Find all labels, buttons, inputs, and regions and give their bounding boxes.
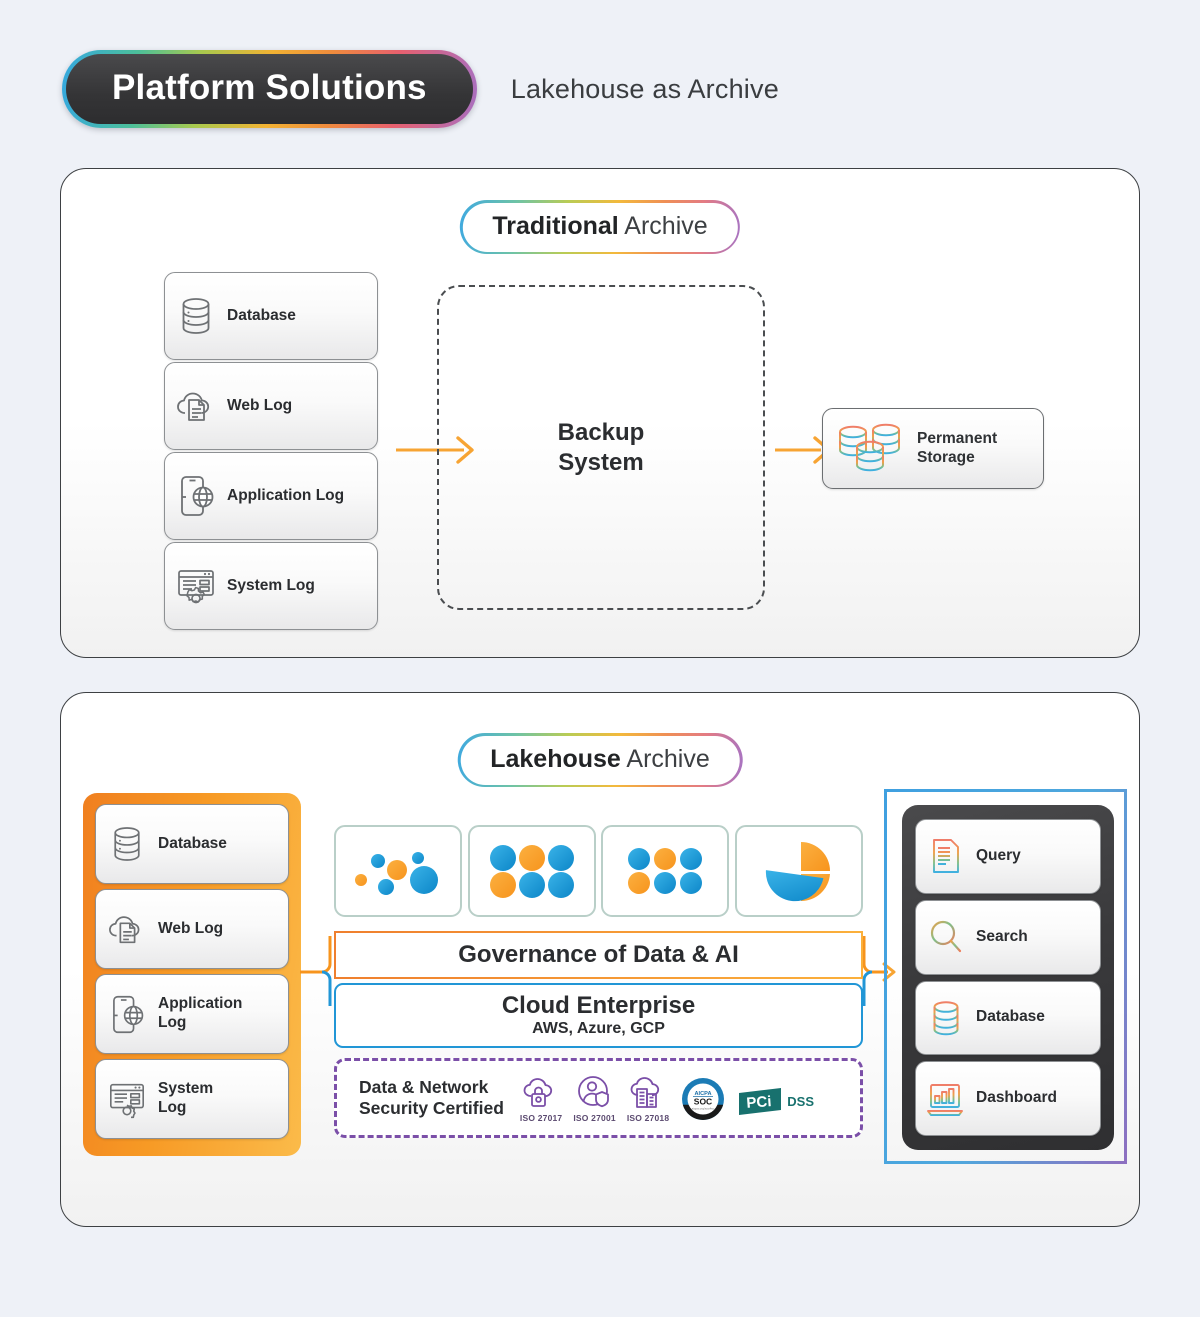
viz-card-pie-chart[interactable] <box>735 825 863 917</box>
security-certified-bar: Data & Network Security Certified ISO 27… <box>334 1058 863 1138</box>
traditional-source-list: Database Web Log <box>164 272 378 632</box>
dashboard-laptop-icon <box>916 1081 976 1117</box>
cloud-document-icon <box>165 386 227 426</box>
source-label-text: Application Log <box>227 487 344 504</box>
cloud-enterprise-label: Cloud Enterprise <box>502 993 695 1020</box>
backup-system-label: Backup System <box>558 418 645 477</box>
source-card-web-log[interactable]: Web Log <box>164 362 378 450</box>
source-card-database[interactable]: Database <box>95 804 289 884</box>
multi-database-icon <box>833 418 909 480</box>
pie-chart-icon <box>764 838 834 904</box>
permanent-storage-label: Permanent Storage <box>917 430 997 468</box>
dot-grid-small-icon <box>626 845 704 897</box>
traditional-title-bold: Traditional <box>492 212 618 240</box>
pci-dss-icon: PCi <box>737 1087 783 1117</box>
pci-text: PCi <box>746 1093 772 1112</box>
cloud-lock-icon <box>521 1074 561 1112</box>
source-label: System Log <box>158 1080 213 1118</box>
document-lines-icon <box>916 836 976 876</box>
viz-card-dot-grid-large[interactable] <box>468 825 596 917</box>
source-label: Application Log <box>227 487 350 506</box>
backup-system-box: Backup System <box>437 285 765 610</box>
source-label: Database <box>158 835 227 854</box>
security-certified-label-text: Data & Network Security Certified <box>359 1077 504 1118</box>
badge-caption: ISO 27017 <box>520 1113 562 1123</box>
lakehouse-archive-title: Lakehouse Archive <box>458 733 743 787</box>
output-card-database[interactable]: Database <box>915 981 1101 1056</box>
badge-pci-dss: PCi DSS <box>737 1087 814 1117</box>
lakehouse-archive-title-inner: Lakehouse Archive <box>460 736 740 785</box>
platform-solutions-label: Platform Solutions <box>112 70 427 105</box>
badge-caption: ISO 27018 <box>627 1113 669 1123</box>
aicpa-soc-seal-icon: AICPA SOC aicpa.org/soc4so <box>680 1076 726 1122</box>
governance-label: Governance of Data & AI <box>458 941 739 969</box>
magnifier-icon <box>916 918 976 956</box>
bubble-chart-icon <box>352 842 444 900</box>
traditional-archive-title-inner: Traditional Archive <box>462 203 737 252</box>
backup-system-label-text: Backup System <box>558 419 645 475</box>
page-subtitle: Lakehouse as Archive <box>511 74 779 105</box>
viz-card-bubble-chart[interactable] <box>334 825 462 917</box>
output-card-search[interactable]: Search <box>915 900 1101 975</box>
badge-iso-27018: ISO 27018 <box>627 1074 669 1123</box>
output-label: Database <box>976 1008 1045 1027</box>
source-card-web-log[interactable]: Web Log <box>95 889 289 969</box>
lakehouse-title-bold: Lakehouse <box>490 745 621 773</box>
output-panel: Query Search <box>902 805 1114 1150</box>
lakehouse-source-list: Database Web Log <box>83 793 301 1156</box>
dot-grid-large-icon <box>487 842 577 900</box>
platform-solutions-badge-inner: Platform Solutions <box>66 54 473 124</box>
source-card-database[interactable]: Database <box>164 272 378 360</box>
traditional-archive-title: Traditional Archive <box>460 200 740 254</box>
source-label: System Log <box>227 577 321 596</box>
page-header: Platform Solutions Lakehouse as Archive <box>62 50 779 128</box>
source-label: Application Log <box>158 995 242 1033</box>
source-label: Database <box>227 307 302 326</box>
viz-card-dot-grid-small[interactable] <box>601 825 729 917</box>
badge-iso-27017: ISO 27017 <box>520 1074 562 1123</box>
dss-text: DSS <box>787 1094 814 1109</box>
cloud-document-icon <box>96 910 158 948</box>
source-label: Web Log <box>227 397 298 416</box>
output-label: Dashboard <box>976 1089 1057 1108</box>
source-label-text: Application Log <box>158 995 242 1031</box>
cloud-providers-label: AWS, Azure, GCP <box>532 1020 665 1038</box>
cloud-enterprise-bar[interactable]: Cloud Enterprise AWS, Azure, GCP <box>334 983 863 1048</box>
mobile-globe-icon <box>96 993 158 1036</box>
cloud-building-icon <box>628 1074 668 1112</box>
database-icon <box>96 825 158 863</box>
permanent-storage-label-text: Permanent Storage <box>917 430 997 466</box>
lakehouse-title-rest: Archive <box>621 745 710 773</box>
person-shield-icon <box>575 1074 615 1112</box>
certification-badges: ISO 27017 ISO 27001 <box>520 1074 814 1123</box>
badge-caption: ISO 27001 <box>573 1113 615 1123</box>
source-card-application-log[interactable]: Application Log <box>95 974 289 1054</box>
source-card-application-log[interactable]: Application Log <box>164 452 378 540</box>
system-gear-icon <box>165 565 227 607</box>
badge-aicpa-soc: AICPA SOC aicpa.org/soc4so <box>680 1076 726 1123</box>
output-card-query[interactable]: Query <box>915 819 1101 894</box>
soc-text: SOC <box>694 1096 712 1106</box>
system-gear-icon <box>96 1079 158 1119</box>
output-card-dashboard[interactable]: Dashboard <box>915 1061 1101 1136</box>
badge-iso-27001: ISO 27001 <box>573 1074 615 1123</box>
platform-solutions-badge: Platform Solutions <box>62 50 477 128</box>
output-label: Search <box>976 928 1028 947</box>
mobile-globe-icon <box>165 473 227 519</box>
source-label-text: System Log <box>158 1080 213 1116</box>
database-color-icon <box>916 998 976 1038</box>
database-icon <box>165 296 227 336</box>
output-label: Query <box>976 847 1021 866</box>
source-label: Web Log <box>158 920 223 939</box>
svg-text:aicpa.org/soc4so: aicpa.org/soc4so <box>692 1106 715 1110</box>
source-card-system-log[interactable]: System Log <box>95 1059 289 1139</box>
permanent-storage-card[interactable]: Permanent Storage <box>822 408 1044 489</box>
source-card-system-log[interactable]: System Log <box>164 542 378 630</box>
traditional-title-rest: Archive <box>619 212 708 240</box>
governance-bar[interactable]: Governance of Data & AI <box>334 931 863 979</box>
security-certified-label: Data & Network Security Certified <box>359 1077 504 1119</box>
